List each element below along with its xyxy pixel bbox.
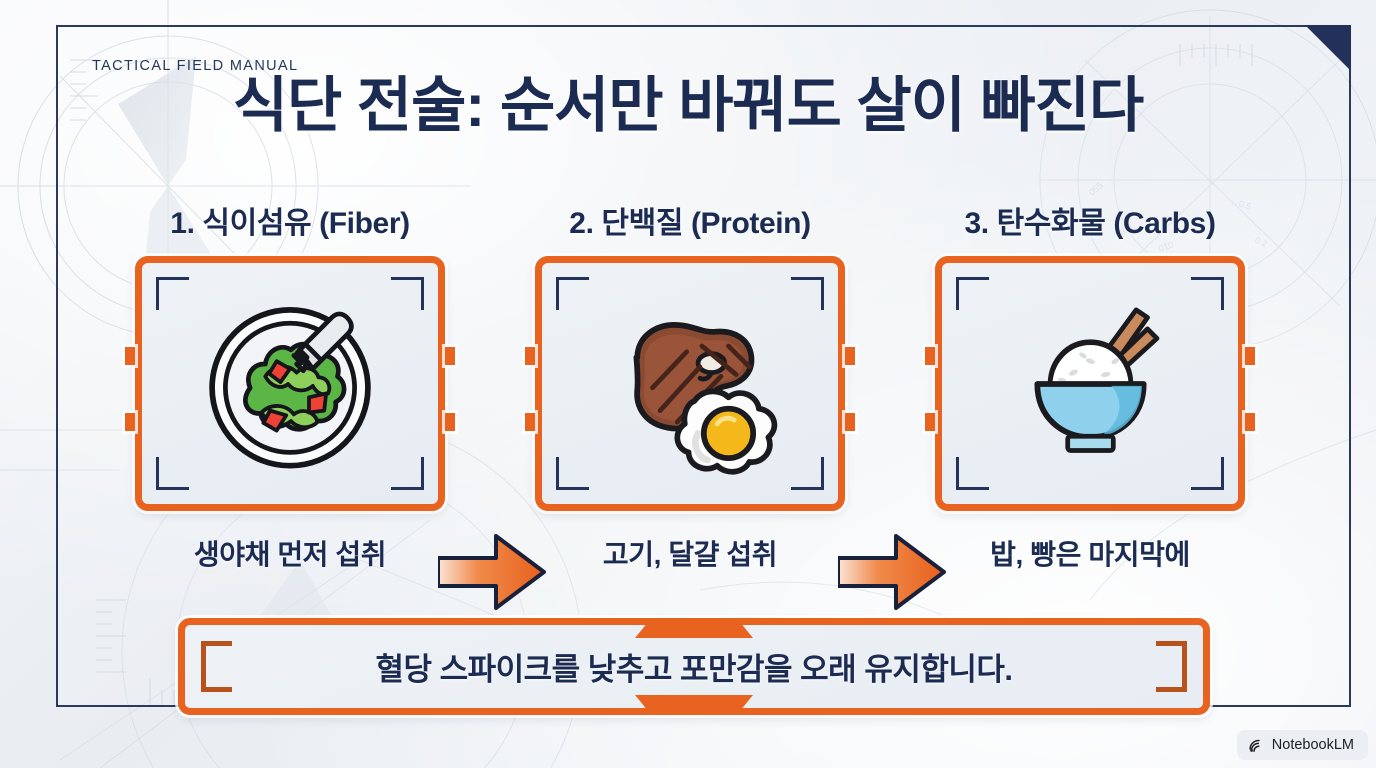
step-heading: 3. 탄수화물 (Carbs) — [935, 198, 1245, 242]
summary-banner-frame: 혈당 스파이크를 낮추고 포만감을 오래 유지합니다. — [178, 618, 1210, 715]
summary-banner-text: 혈당 스파이크를 낮추고 포만감을 오래 유지합니다. — [185, 625, 1203, 708]
step-card-carbs[interactable]: 3. 탄수화물 (Carbs) — [935, 198, 1245, 573]
step-card-fiber[interactable]: 1. 식이섬유 (Fiber) — [135, 198, 445, 573]
summary-banner: 혈당 스파이크를 낮추고 포만감을 오래 유지합니다. — [178, 618, 1210, 715]
notebooklm-watermark: NotebookLM — [1237, 730, 1368, 760]
step-caption: 밥, 빵은 마지막에 — [935, 533, 1245, 573]
steps-row: 1. 식이섬유 (Fiber) — [0, 198, 1376, 568]
page-title: 식단 전술: 순서만 바꿔도 살이 빠진다 — [0, 74, 1376, 137]
arrow-step1-to-step2 — [438, 526, 548, 618]
frame-notch-right-top — [845, 347, 855, 365]
corner-triangle-decoration — [1305, 25, 1351, 71]
step-card-protein[interactable]: 2. 단백질 (Protein) — [535, 198, 845, 573]
rice-bowl-chopsticks-icon — [942, 263, 1238, 504]
step-caption: 생야채 먼저 섭취 — [135, 533, 445, 573]
notebooklm-spiral-icon — [1248, 737, 1265, 754]
arrow-step2-to-step3 — [838, 526, 948, 618]
step-image-frame — [935, 256, 1245, 511]
step-heading: 2. 단백질 (Protein) — [535, 198, 845, 242]
frame-notch-right-bottom — [1245, 413, 1255, 431]
salad-bowl-icon — [142, 263, 438, 504]
step-image-frame — [135, 256, 445, 511]
frame-notch-right-bottom — [845, 413, 855, 431]
step-image-frame — [535, 256, 845, 511]
frame-notch-right-top — [445, 347, 455, 365]
steak-and-egg-icon — [542, 263, 838, 504]
frame-notch-right-bottom — [445, 413, 455, 431]
step-heading: 1. 식이섬유 (Fiber) — [135, 198, 445, 242]
notebooklm-label: NotebookLM — [1272, 737, 1354, 753]
step-caption: 고기, 달걀 섭취 — [535, 533, 845, 573]
infographic-canvas: 100 010 055 0.5 0.2 TACTICAL FIELD MANUA… — [0, 0, 1376, 768]
frame-notch-right-top — [1245, 347, 1255, 365]
